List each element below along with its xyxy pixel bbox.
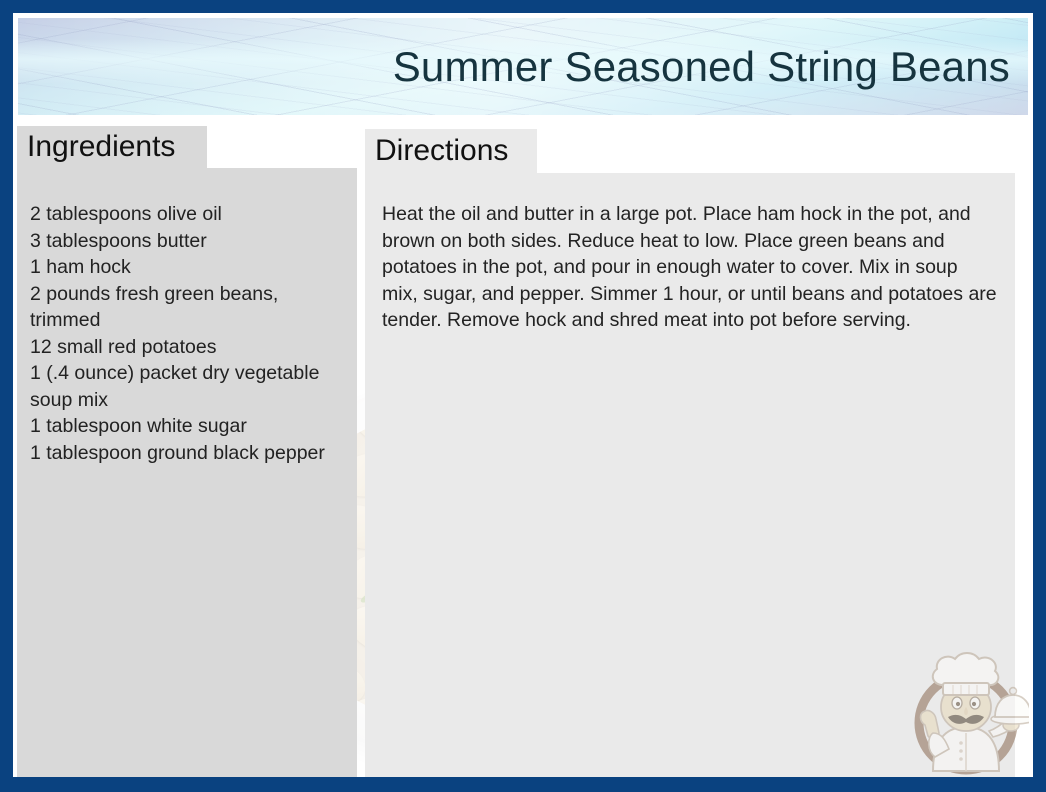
list-item: 2 tablespoons olive oil: [30, 201, 351, 228]
list-item: 1 tablespoon white sugar: [30, 413, 351, 440]
ingredients-heading: Ingredients: [17, 130, 175, 164]
directions-text: Heat the oil and butter in a large pot. …: [382, 201, 998, 334]
list-item: 1 (.4 ounce) packet dry vegetable soup m…: [30, 360, 351, 413]
ingredients-panel: 2 tablespoons olive oil 3 tablespoons bu…: [17, 168, 357, 777]
page-title: Summer Seasoned String Beans: [393, 44, 1010, 88]
directions-heading: Directions: [365, 134, 508, 168]
header-banner: Summer Seasoned String Beans: [18, 18, 1028, 115]
tab-directions[interactable]: Directions: [365, 129, 537, 173]
list-item: 1 ham hock: [30, 254, 351, 281]
recipe-card: Summer Seasoned String Beans: [0, 0, 1046, 792]
list-item: 3 tablespoons butter: [30, 228, 351, 255]
list-item: 2 pounds fresh green beans, trimmed: [30, 281, 351, 334]
chef-with-cloche-logo: [903, 641, 1029, 777]
list-item: 1 tablespoon ground black pepper: [30, 440, 351, 467]
ingredients-list: 2 tablespoons olive oil 3 tablespoons bu…: [30, 201, 351, 466]
recipe-page: Summer Seasoned String Beans: [13, 13, 1033, 777]
tab-ingredients[interactable]: Ingredients: [17, 126, 207, 168]
list-item: 12 small red potatoes: [30, 334, 351, 361]
